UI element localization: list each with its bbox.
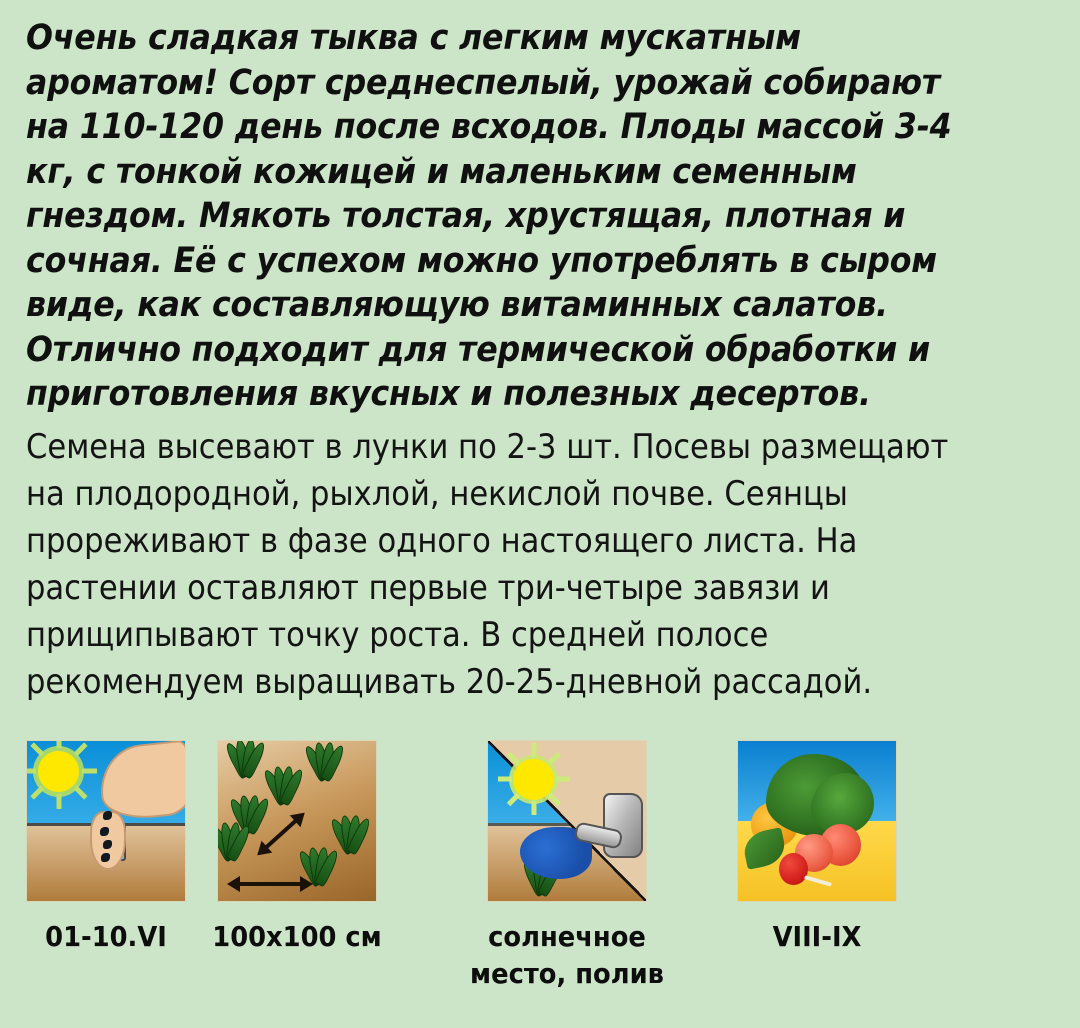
seed-packet-back-panel: Очень сладкая тыква с легким мускатным а… — [0, 0, 1080, 1028]
growing-icon-caption: 01-10.VI — [20, 918, 193, 955]
plant-icon — [217, 818, 250, 860]
plant-icon — [265, 762, 303, 804]
growing-icon-strip: 01-10.VI — [0, 740, 1080, 1028]
watering-can-icon — [573, 789, 643, 863]
growing-icon-cell-harvest: VIII-IX — [737, 740, 897, 902]
growing-icon-caption: 100x100 см — [201, 918, 392, 955]
seed-icon — [103, 840, 112, 849]
description-text-area: Очень сладкая тыква с легким мускатным а… — [26, 16, 1056, 706]
growing-icon-cell-sowing: 01-10.VI — [26, 740, 186, 902]
variety-headline: Очень сладкая тыква с легким мускатным а… — [26, 16, 958, 417]
plant-icon — [227, 740, 265, 777]
growing-instructions-text: Семена высевают в лунки по 2-3 шт. Посев… — [26, 417, 953, 706]
growing-icon-cell-light-water: солнечное место, полив — [487, 740, 647, 902]
growing-icon-caption: VIII-IX — [727, 918, 907, 955]
plant-icon — [306, 740, 344, 780]
horizontal-spacing-arrow-icon — [239, 882, 301, 886]
sun-and-watering-icon — [487, 740, 647, 902]
sowing-seeds-icon — [26, 740, 186, 902]
radish-icon — [779, 853, 807, 885]
growing-icon-caption: солнечное место, полив — [464, 918, 670, 992]
sun-icon — [38, 751, 79, 793]
growing-icon-cell-spacing: 100x100 см — [217, 740, 377, 902]
harvest-icon — [737, 740, 897, 902]
plant-spacing-icon — [217, 740, 377, 902]
